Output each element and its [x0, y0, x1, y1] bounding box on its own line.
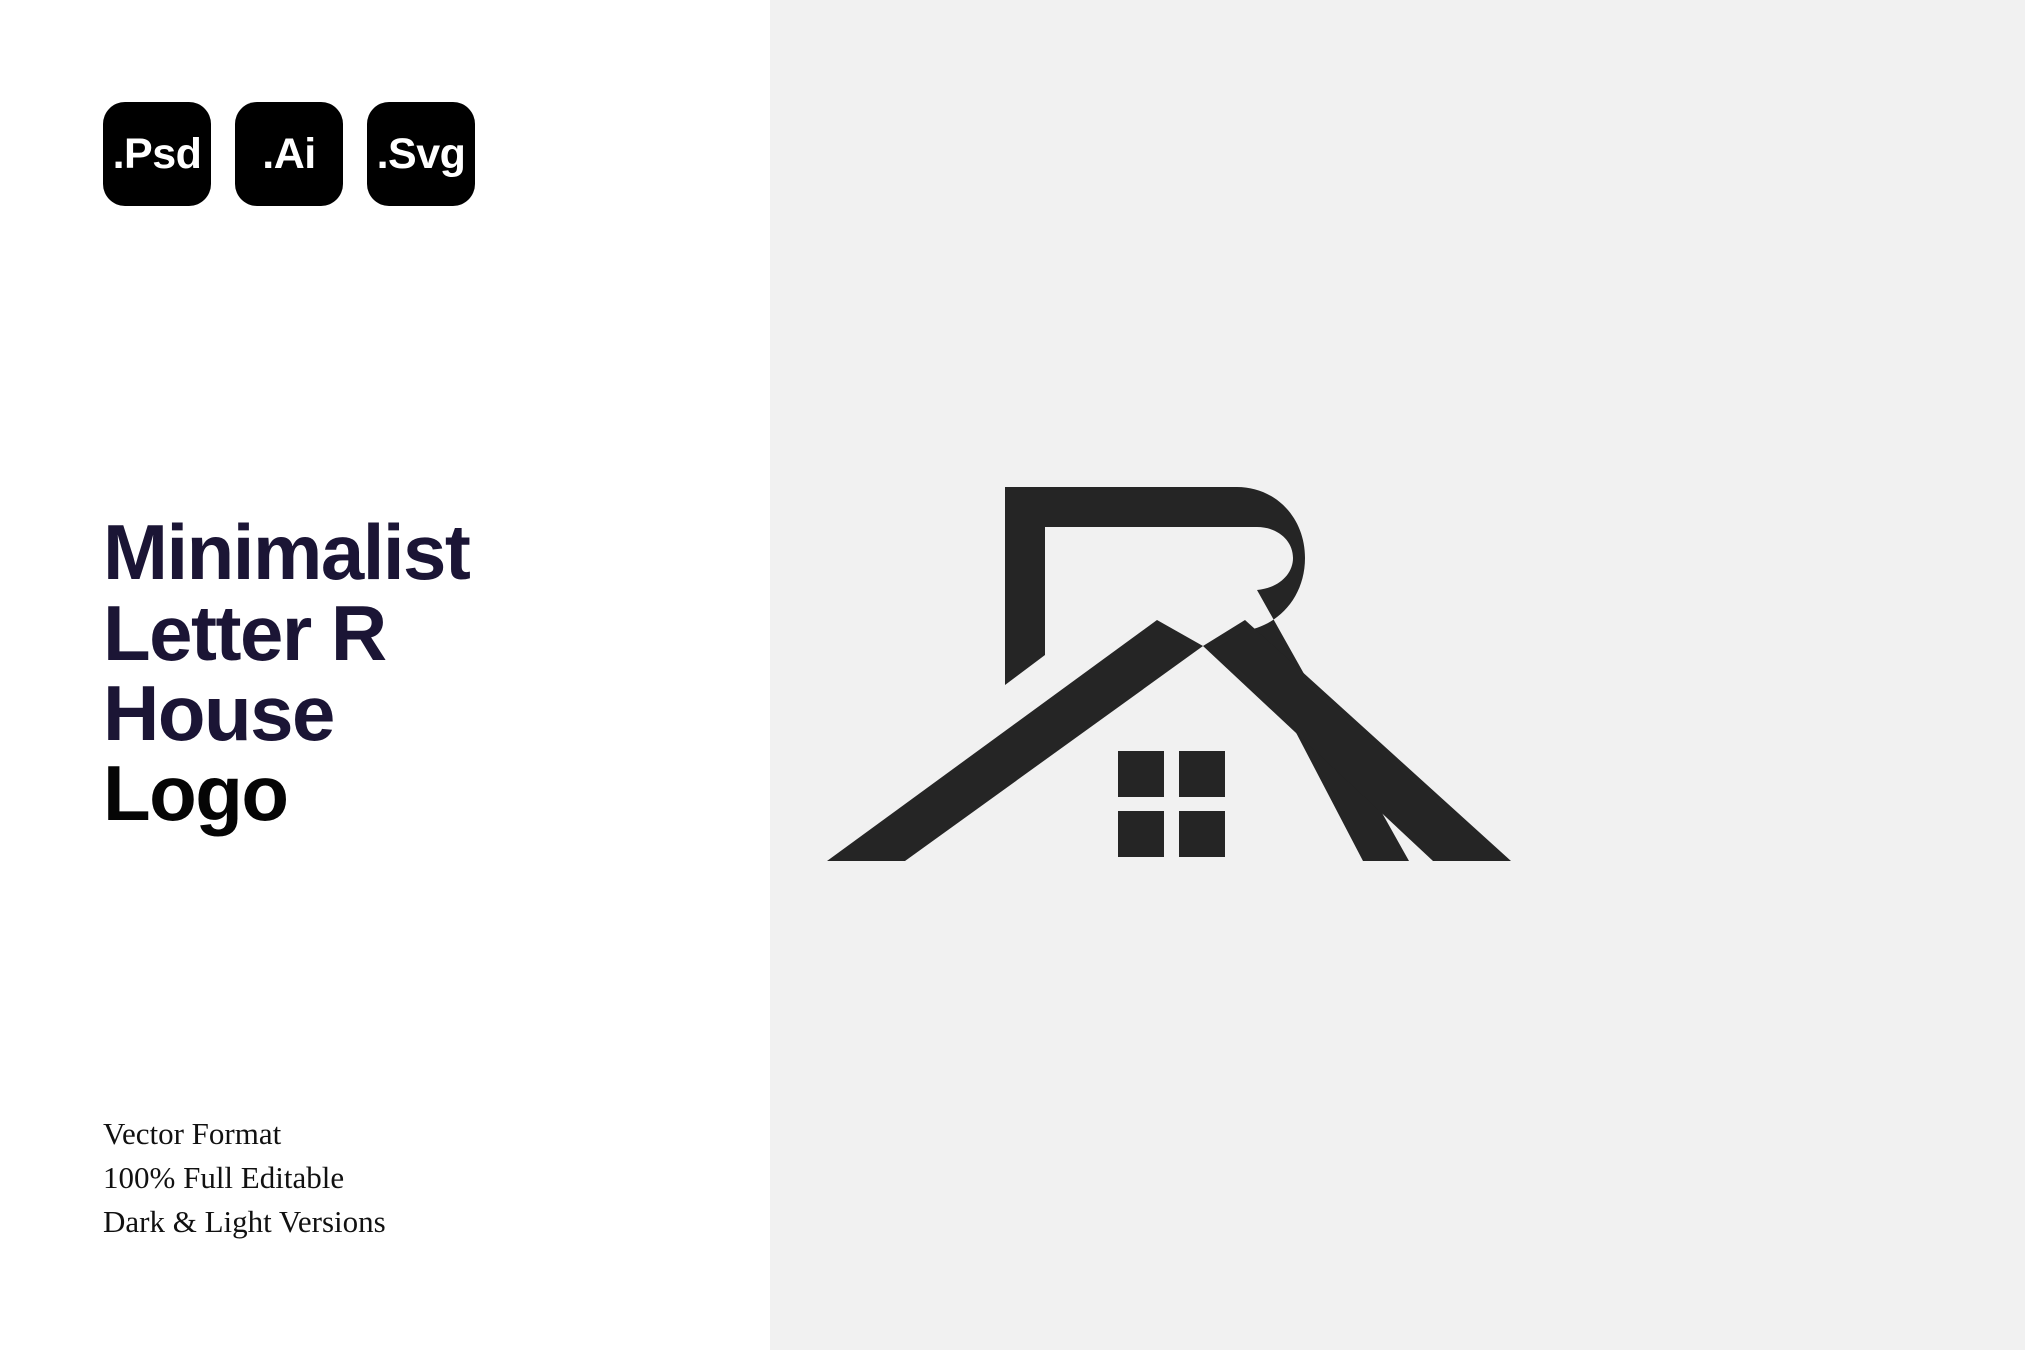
product-details: Vector Format 100% Full Editable Dark & …	[103, 1112, 386, 1244]
page-title-line-4: Logo	[103, 753, 703, 833]
page-title-line-2: Letter R	[103, 593, 703, 673]
window-square-top-right	[1179, 751, 1225, 797]
product-detail-versions: Dark & Light Versions	[103, 1200, 386, 1244]
page-title: Minimalist Letter R House Logo	[103, 512, 703, 833]
window-square-bottom-left	[1118, 811, 1164, 857]
window-square-top-left	[1118, 751, 1164, 797]
page-title-line-3: House	[103, 673, 703, 753]
ai-format-badge[interactable]: .Ai	[235, 102, 343, 206]
poster-canvas: .Psd .Ai .Svg Minimalist Letter R House …	[0, 0, 2025, 1350]
logo-showcase-panel	[770, 0, 2025, 1350]
page-title-line-1: Minimalist	[103, 512, 703, 592]
ai-format-badge-label: .Ai	[262, 133, 315, 176]
psd-format-badge-label: .Psd	[113, 133, 202, 176]
psd-format-badge[interactable]: .Psd	[103, 102, 211, 206]
product-detail-editable: 100% Full Editable	[103, 1156, 386, 1200]
file-format-badge-row: .Psd .Ai .Svg	[103, 102, 475, 206]
left-info-panel: .Psd .Ai .Svg Minimalist Letter R House …	[0, 0, 770, 1350]
svg-format-badge-label: .Svg	[377, 133, 466, 176]
svg-format-badge[interactable]: .Svg	[367, 102, 475, 206]
letter-r-house-logo	[805, 470, 1555, 890]
product-detail-vector-format: Vector Format	[103, 1112, 386, 1156]
window-square-bottom-right	[1179, 811, 1225, 857]
